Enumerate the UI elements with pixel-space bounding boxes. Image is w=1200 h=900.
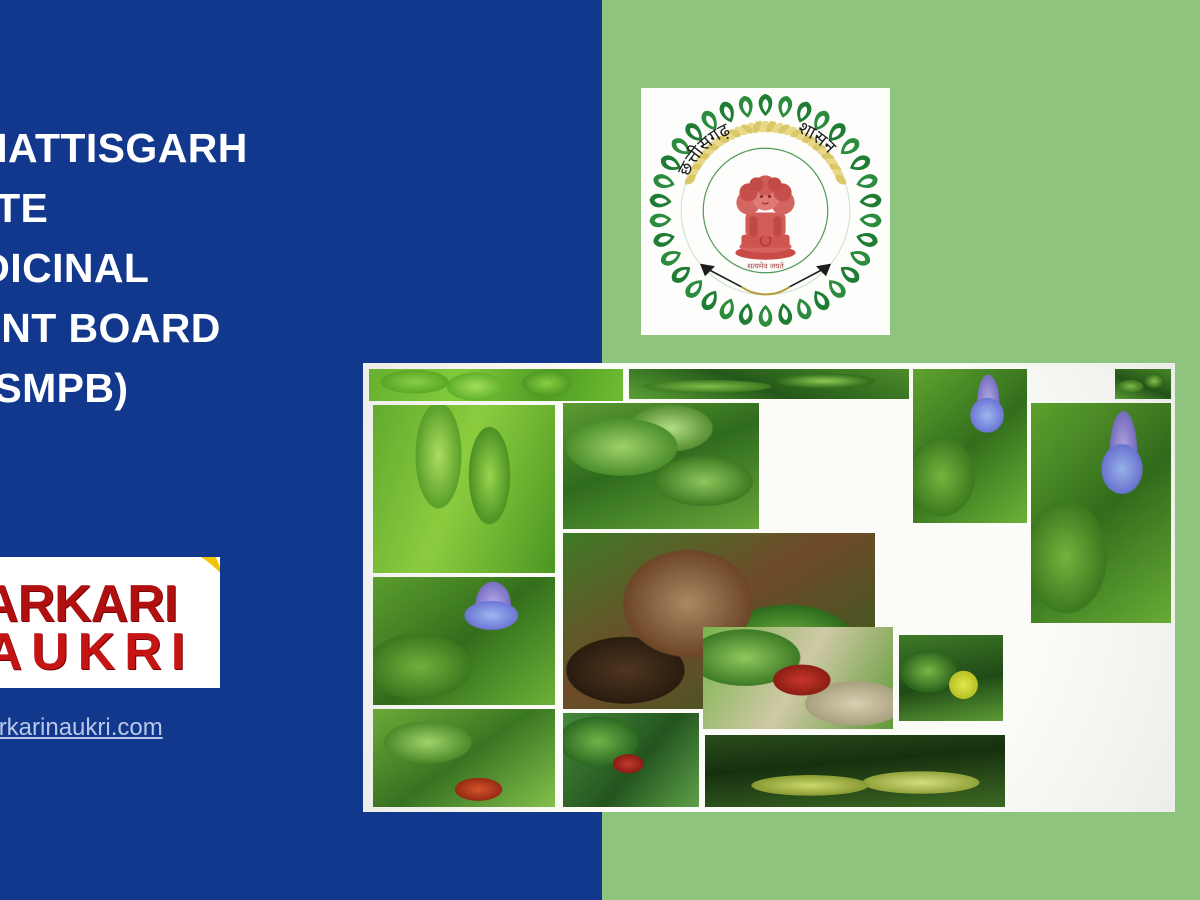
logo-word-naukri: NAUKRI xyxy=(0,623,218,681)
medicinal-plants-photo-collage xyxy=(363,363,1175,812)
chhattisgarh-government-emblem-icon: सत्यमेव जयते छत्तीसगढ़ शासन xyxy=(645,90,886,331)
title-line-3: MEDICINAL xyxy=(0,238,478,298)
collage-tile xyxy=(373,709,555,807)
collage-tile-image xyxy=(369,369,623,401)
collage-tile xyxy=(563,403,759,529)
collage-tile-image xyxy=(373,577,555,705)
title-line-2: STATE xyxy=(0,178,478,238)
collage-tile xyxy=(563,713,699,807)
site-url-link[interactable]: www.sarkarinaukri.com xyxy=(0,714,163,742)
collage-tile xyxy=(913,369,1027,523)
collage-tile-image xyxy=(563,403,759,529)
collage-tile-image xyxy=(1031,403,1171,623)
collage-tile-image xyxy=(563,713,699,807)
emblem-motto-text: सत्यमेव जयते xyxy=(747,262,784,271)
collage-tile xyxy=(703,627,893,729)
title-line-4: PLANT BOARD xyxy=(0,298,478,358)
collage-tile xyxy=(1115,369,1171,399)
collage-tile xyxy=(629,369,909,399)
collage-tile-image xyxy=(373,709,555,807)
collage-tile-image xyxy=(629,369,909,399)
collage-tile-image xyxy=(373,405,555,573)
collage-tile xyxy=(373,577,555,705)
collage-tile xyxy=(899,635,1003,721)
sarkari-naukri-logo[interactable]: SARKARI NAUKRI xyxy=(0,557,220,688)
collage-tile xyxy=(369,369,623,401)
collage-tile-image xyxy=(705,735,1005,807)
collage-tile xyxy=(1031,403,1171,623)
title-line-1: CHHATTISGARH xyxy=(0,118,478,178)
emblem-card: सत्यमेव जयते छत्तीसगढ़ शासन xyxy=(641,88,890,335)
collage-tile-image xyxy=(899,635,1003,721)
collage-tile xyxy=(705,735,1005,807)
collage-tile-image xyxy=(1115,369,1171,399)
collage-tile xyxy=(373,405,555,573)
collage-tile-image xyxy=(913,369,1027,523)
collage-tile-image xyxy=(703,627,893,729)
banner-stage: CHHATTISGARH STATE MEDICINAL PLANT BOARD… xyxy=(0,0,1200,900)
